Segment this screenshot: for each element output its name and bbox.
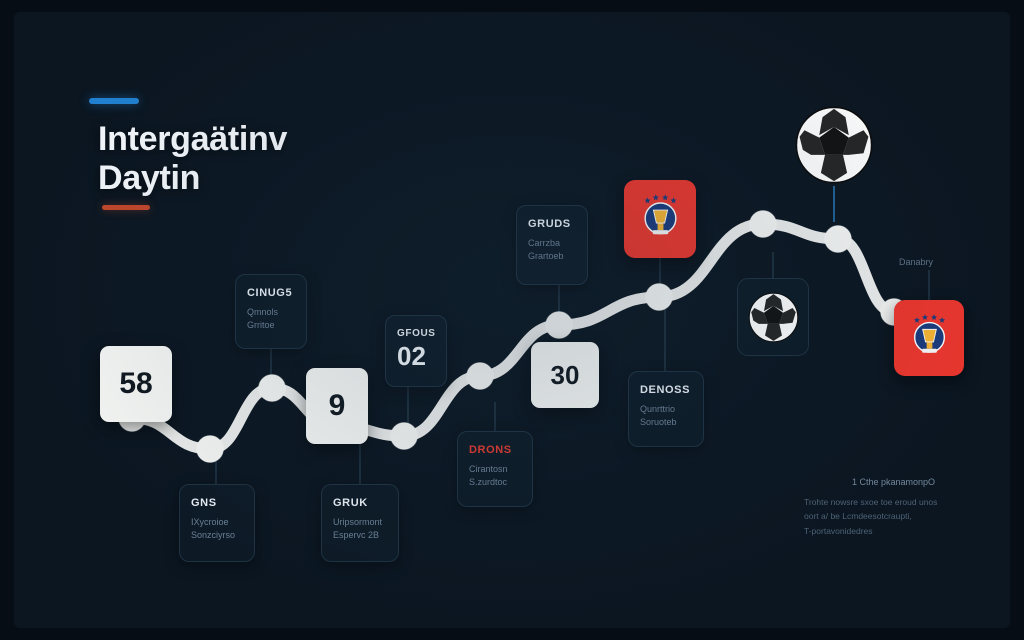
label-card-line: S.zurdtoc (469, 476, 521, 489)
soccer-ball-icon (747, 291, 800, 344)
footer-title: 1 Cthe pkanamonpO (804, 477, 994, 487)
label-card-title: GFOUS (397, 328, 435, 339)
footer-line: oort a/ be Lcmdeesotcraupti, (804, 509, 994, 523)
label-card-drons[interactable]: DRONSCirantosnS.zurdtoc (457, 431, 533, 507)
label-card-line: Qunrttrio (640, 403, 692, 416)
value-card-58[interactable]: 58 (100, 346, 172, 422)
label-card-line: Cirantosn (469, 463, 521, 476)
label-card-line: Soruoteb (640, 416, 692, 429)
footer-lines: Trohte nowsre sxoe toe eroud unosoort a/… (804, 495, 994, 538)
soccer-ball-icon (793, 104, 875, 186)
value-card-30[interactable]: 30 (531, 342, 599, 408)
label-card-gruk[interactable]: GRUKUripsormontEspervc 2B (321, 484, 399, 562)
label-card-gns[interactable]: GNSIXycroioeSonzciyrso (179, 484, 255, 562)
label-card-gruds[interactable]: GRUDSCarrzbaGrartoeb (516, 205, 588, 285)
label-card-line: Grartoeb (528, 250, 576, 263)
soccer-ball-icon-hero[interactable] (793, 104, 875, 191)
label-card-line: Espervc 2B (333, 529, 387, 542)
label-card-line: 02 (397, 343, 435, 370)
label-card-line: IXycroioe (191, 516, 243, 529)
infographic-panel: Intergaätinv Daytin 58930 CINUG5QmnolsGr… (14, 12, 1010, 628)
side-note: Danabry (899, 257, 933, 267)
label-card-line: Sonzciyrso (191, 529, 243, 542)
label-card-title: CINUG5 (247, 287, 295, 299)
badge-trophy-top[interactable] (624, 180, 696, 258)
label-card-line: Grritoe (247, 319, 295, 332)
badge-trophy-bottom[interactable] (894, 300, 964, 376)
label-card-line: Qmnols (247, 306, 295, 319)
label-card-title: GRUDS (528, 218, 576, 230)
label-card-title: GNS (191, 497, 243, 509)
label-card-line: Carrzba (528, 237, 576, 250)
label-card-title: GRUK (333, 497, 387, 509)
trophy-badge-icon (901, 310, 958, 367)
badge-ball-card[interactable] (737, 278, 809, 356)
label-card-gruos-02[interactable]: GFOUS02 (385, 315, 447, 387)
value-card-9[interactable]: 9 (306, 368, 368, 444)
footer-block: 1 Cthe pkanamonpO Trohte nowsre sxoe toe… (804, 477, 994, 538)
label-card-line: Uripsormont (333, 516, 387, 529)
trophy-badge-icon (631, 190, 690, 249)
label-card-denoss[interactable]: DENOSSQunrttrioSoruoteb (628, 371, 704, 447)
label-card-title: DENOSS (640, 384, 692, 396)
footer-line: Trohte nowsre sxoe toe eroud unos (804, 495, 994, 509)
label-card-title: DRONS (469, 444, 521, 456)
footer-line: T-portavonidedres (804, 524, 994, 538)
infographic-canvas: Intergaätinv Daytin 58930 CINUG5QmnolsGr… (0, 0, 1024, 640)
label-card-cinugs[interactable]: CINUG5QmnolsGrritoe (235, 274, 307, 349)
